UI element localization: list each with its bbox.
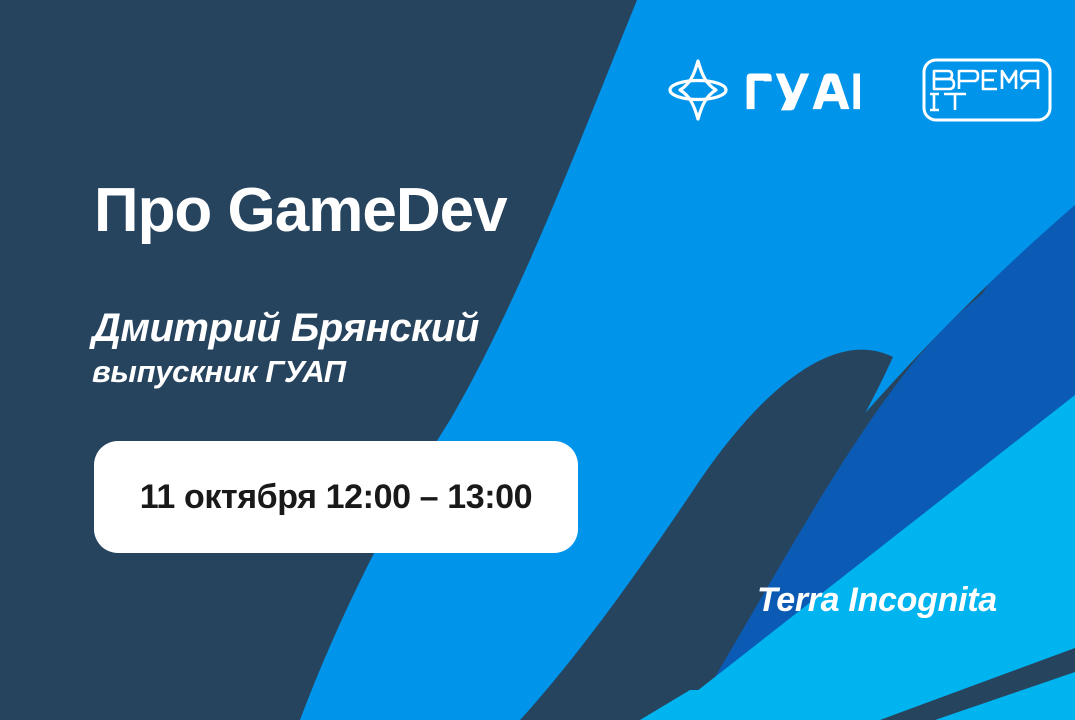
footer-brand: Terra Incognita: [757, 581, 997, 620]
event-poster: Про GameDev Дмитрий Брянский выпускник Г…: [0, 0, 1075, 720]
guap-logo: [666, 58, 860, 122]
date-time-text: 11 октября 12:00 – 13:00: [140, 478, 532, 517]
logo-row: [666, 58, 1052, 122]
speaker-role: выпускник ГУАП: [92, 354, 479, 391]
speaker-name: Дмитрий Брянский: [92, 306, 479, 352]
guap-star-icon: [666, 58, 730, 122]
date-time-badge: 11 октября 12:00 – 13:00: [94, 441, 578, 553]
speaker-block: Дмитрий Брянский выпускник ГУАП: [92, 306, 479, 390]
guap-wordmark: [744, 68, 860, 112]
vremya-it-logo: [922, 58, 1052, 122]
page-title: Про GameDev: [94, 178, 507, 243]
